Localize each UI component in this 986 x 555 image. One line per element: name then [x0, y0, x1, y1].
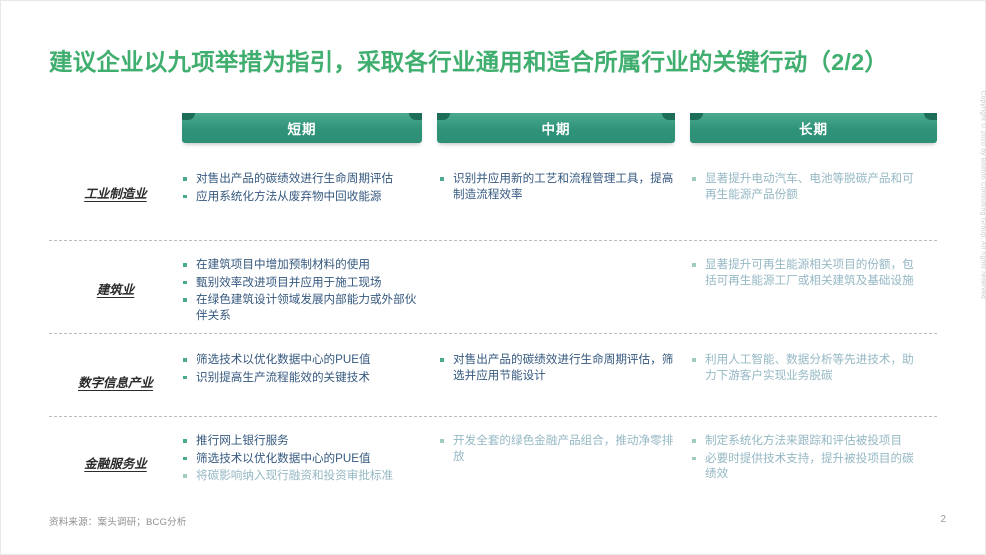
source-note: 资料来源：案头调研；BCG分析: [49, 514, 187, 528]
cell-short-term: 在建筑项目中增加预制材料的使用甄别效率改进项目并应用于施工现场在绿色建筑设计领域…: [182, 257, 439, 325]
action-bullet: 在绿色建筑设计领域发展内部能力或外部伙伴关系: [182, 292, 425, 323]
action-bullet: 甄别效率改进项目并应用于施工现场: [182, 275, 425, 291]
table-row: 数字信息产业 筛选技术以优化数据中心的PUE值识别提高生产流程能效的关键技术 对…: [49, 333, 937, 416]
action-bullet: 必要时提供技术支持，提升被投项目的碳绩效: [691, 451, 923, 482]
ribbon-notch-right-icon: [409, 113, 422, 120]
action-bullet: 开发全套的绿色金融产品组合，推动净零排放: [439, 433, 677, 464]
cell-short-term: 对售出产品的碳绩效进行生命周期评估应用系统化方法从废弃物中回收能源: [182, 171, 439, 206]
page-title: 建议企业以九项举措为指引，采取各行业通用和适合所属行业的关键行动（2/2）: [49, 43, 939, 77]
cell-long-term: 显著提升电动汽车、电池等脱碳产品和可再生能源产品份额: [691, 171, 937, 204]
action-bullet: 筛选技术以优化数据中心的PUE值: [182, 451, 425, 467]
table-row: 建筑业 在建筑项目中增加预制材料的使用甄别效率改进项目并应用于施工现场在绿色建筑…: [49, 240, 937, 333]
action-bullet: 识别并应用新的工艺和流程管理工具，提高制造流程效率: [439, 171, 677, 202]
row-label-industry: 工业制造业: [49, 171, 182, 202]
column-header-mid-term[interactable]: 中期: [437, 113, 675, 143]
action-bullet: 识别提高生产流程能效的关键技术: [182, 370, 425, 386]
ribbon-notch-left-icon: [690, 113, 703, 120]
column-header-long-term[interactable]: 长期: [690, 113, 937, 143]
action-bullet: 筛选技术以优化数据中心的PUE值: [182, 352, 425, 368]
page-number: 2: [940, 514, 946, 525]
column-header-label: 中期: [542, 118, 571, 138]
column-header-label: 短期: [288, 118, 317, 138]
action-bullet: 显著提升电动汽车、电池等脱碳产品和可再生能源产品份额: [691, 171, 923, 202]
action-bullet: 将碳影响纳入现行融资和投资审批标准: [182, 468, 425, 484]
action-bullet: 对售出产品的碳绩效进行生命周期评估，筛选并应用节能设计: [439, 352, 677, 383]
action-bullet: 应用系统化方法从废弃物中回收能源: [182, 189, 425, 205]
cell-mid-term: 识别并应用新的工艺和流程管理工具，提高制造流程效率: [439, 171, 691, 204]
cell-long-term: 制定系统化方法来跟踪和评估被投项目必要时提供技术支持，提升被投项目的碳绩效: [691, 433, 937, 484]
cell-short-term: 筛选技术以优化数据中心的PUE值识别提高生产流程能效的关键技术: [182, 352, 439, 387]
cell-short-term: 推行网上银行服务筛选技术以优化数据中心的PUE值将碳影响纳入现行融资和投资审批标…: [182, 433, 439, 486]
cell-mid-term: 对售出产品的碳绩效进行生命周期评估，筛选并应用节能设计: [439, 352, 691, 385]
action-bullet: 利用人工智能、数据分析等先进技术，助力下游客户实现业务脱碳: [691, 352, 923, 383]
cell-long-term: 利用人工智能、数据分析等先进技术，助力下游客户实现业务脱碳: [691, 352, 937, 385]
ribbon-notch-right-icon: [662, 113, 675, 120]
action-bullet: 在建筑项目中增加预制材料的使用: [182, 257, 425, 273]
action-bullet: 推行网上银行服务: [182, 433, 425, 449]
row-label-industry: 建筑业: [49, 257, 182, 298]
table-row: 金融服务业 推行网上银行服务筛选技术以优化数据中心的PUE值将碳影响纳入现行融资…: [49, 416, 937, 497]
action-bullet: 制定系统化方法来跟踪和评估被投项目: [691, 433, 923, 449]
cell-mid-term: 开发全套的绿色金融产品组合，推动净零排放: [439, 433, 691, 466]
row-label-industry: 金融服务业: [49, 433, 182, 472]
copyright-notice: Copyright © 2020 by Boston Consulting Gr…: [979, 91, 986, 301]
column-header-short-term[interactable]: 短期: [182, 113, 422, 143]
row-label-industry: 数字信息产业: [49, 352, 182, 391]
industry-action-matrix: 工业制造业 对售出产品的碳绩效进行生命周期评估应用系统化方法从废弃物中回收能源 …: [49, 157, 937, 497]
column-header-ribbons: 短期 中期 长期: [182, 113, 937, 147]
ribbon-notch-left-icon: [182, 113, 195, 120]
action-bullet: 对售出产品的碳绩效进行生命周期评估: [182, 171, 425, 187]
action-bullet: 显著提升可再生能源相关项目的份额，包括可再生能源工厂或相关建筑及基础设施: [691, 257, 923, 288]
ribbon-notch-left-icon: [437, 113, 450, 120]
ribbon-notch-right-icon: [924, 113, 937, 120]
table-row: 工业制造业 对售出产品的碳绩效进行生命周期评估应用系统化方法从废弃物中回收能源 …: [49, 157, 937, 240]
cell-long-term: 显著提升可再生能源相关项目的份额，包括可再生能源工厂或相关建筑及基础设施: [691, 257, 937, 290]
column-header-label: 长期: [799, 118, 828, 138]
slide-canvas: 建议企业以九项举措为指引，采取各行业通用和适合所属行业的关键行动（2/2） 短期…: [0, 0, 986, 555]
